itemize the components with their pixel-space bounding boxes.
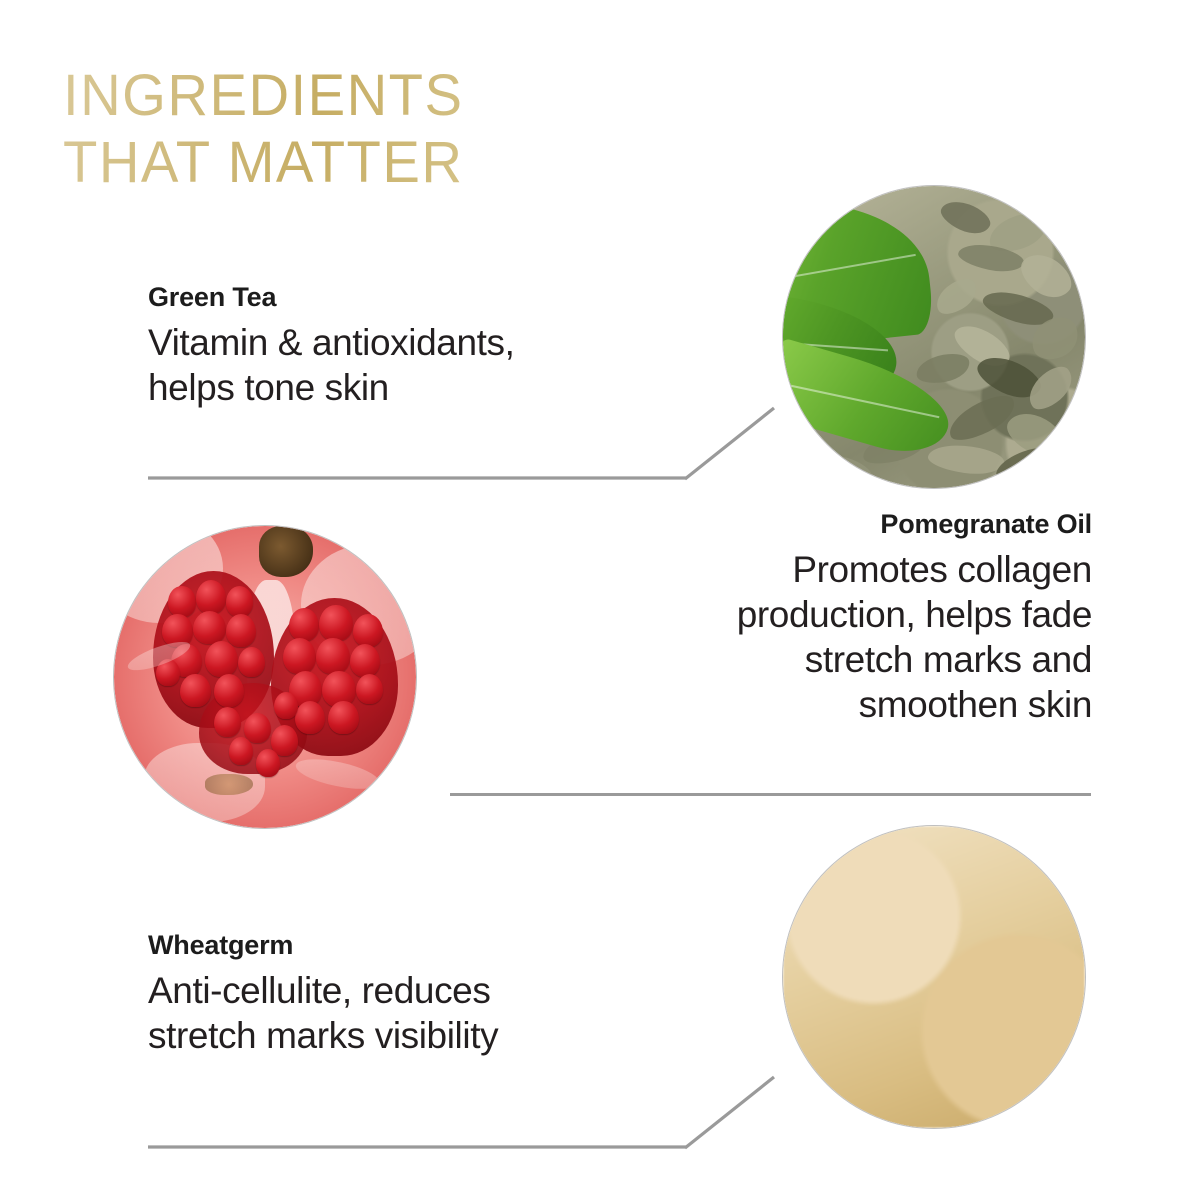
ingredients-poster: INGREDIENTS THAT MATTER Green Tea Vitami… — [0, 0, 1200, 1200]
ingredient-description-wheatgerm: Anti-cellulite, reduces stretch marks vi… — [148, 968, 748, 1058]
ingredient-name-wheatgerm: Wheatgerm — [148, 929, 748, 963]
ingredient-block-green-tea: Green Tea Vitamin & antioxidants, helps … — [148, 281, 748, 410]
ingredient-name-pomegranate-oil: Pomegranate Oil — [432, 508, 1092, 542]
ingredient-description-pomegranate-oil: Promotes collagen production, helps fade… — [432, 547, 1092, 728]
ingredient-image-wheatgerm — [783, 826, 1085, 1128]
ingredient-block-pomegranate-oil: Pomegranate Oil Promotes collagen produc… — [432, 508, 1092, 727]
ingredient-image-pomegranate-oil — [114, 526, 416, 828]
divider-line-pomegranate-oil — [450, 793, 1091, 796]
page-title: INGREDIENTS THAT MATTER — [63, 62, 742, 197]
connector-line-wheatgerm — [140, 1060, 790, 1160]
ingredient-name-green-tea: Green Tea — [148, 281, 748, 315]
connector-line-green-tea — [140, 395, 790, 495]
ingredient-block-wheatgerm: Wheatgerm Anti-cellulite, reduces stretc… — [148, 929, 748, 1058]
ingredient-image-green-tea — [783, 186, 1085, 488]
